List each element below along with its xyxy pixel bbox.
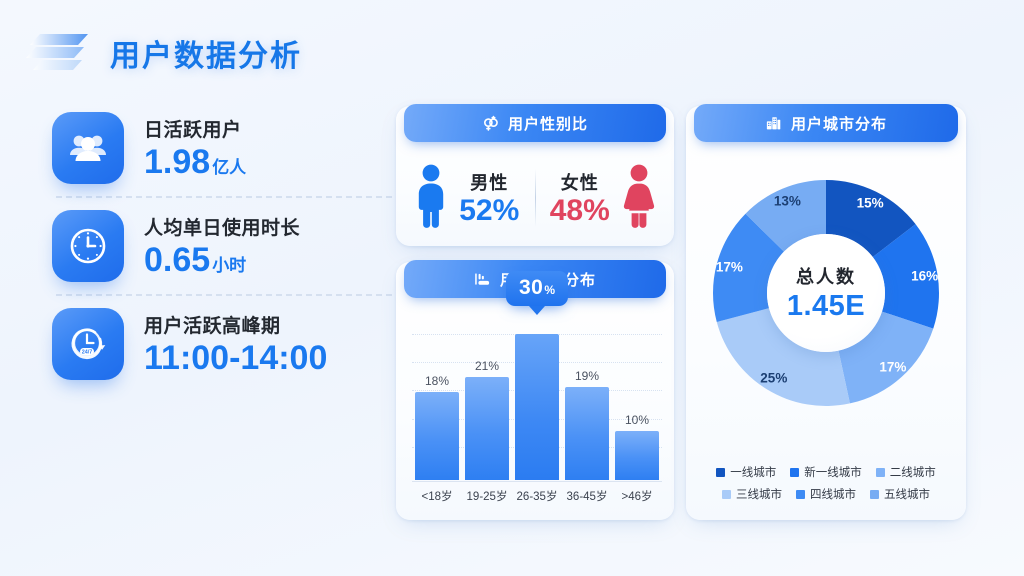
stat-number: 11:00-14:00 <box>144 341 327 377</box>
logo-icon <box>26 30 96 76</box>
legend-item[interactable]: 三线城市 <box>722 486 782 502</box>
bar-value-label: 19% <box>575 369 599 383</box>
bar[interactable] <box>565 387 609 480</box>
donut-slice-label: 15% <box>857 196 884 211</box>
donut-legend: 一线城市新一线城市二线城市三线城市四线城市五线城市 <box>700 464 952 502</box>
legend-label: 新一线城市 <box>804 464 862 480</box>
female-figure-icon <box>618 163 660 234</box>
donut-center-value: 1.45E <box>787 290 865 323</box>
card-gender-ratio: 用户性别比 男性 52% 女性 48% <box>396 106 674 246</box>
male-text: 男性 52% <box>459 169 519 227</box>
bar-column: 19% <box>565 314 609 480</box>
clock-24-7-icon: 24/7 <box>52 308 124 380</box>
x-axis-label: 36-45岁 <box>565 488 609 504</box>
gender-male: 男性 52% <box>396 150 535 246</box>
x-axis-label: <18岁 <box>415 488 459 504</box>
bars-group: 18%21%30%30%19%10% <box>412 314 662 480</box>
building-icon <box>765 115 782 132</box>
donut-chart: 总人数 1.45E 15%16%17%25%17%13% <box>686 158 966 428</box>
legend-item[interactable]: 新一线城市 <box>790 464 862 480</box>
donut-slice-label: 16% <box>911 269 938 284</box>
donut-slice-label: 13% <box>774 193 801 208</box>
bar-value-label: 21% <box>475 359 499 373</box>
donut-slice-label: 25% <box>760 371 787 386</box>
clock-icon <box>52 210 124 282</box>
stat-peak-active-period: 24/7 用户活跃高峰期 11:00-14:00 <box>52 296 392 392</box>
legend-label: 三线城市 <box>736 486 782 502</box>
svg-text:24/7: 24/7 <box>82 349 93 355</box>
donut-slice-label: 17% <box>716 260 743 275</box>
male-label: 男性 <box>470 169 508 195</box>
male-figure-icon <box>411 163 451 234</box>
legend-label: 四线城市 <box>810 486 856 502</box>
stat-value: 11:00-14:00 <box>144 341 329 377</box>
card-age-distribution: 用户年龄分布 18%21%30%30%19%10% <18岁19-25岁26-3… <box>396 262 674 520</box>
stats-column: 日活跃用户 1.98 亿人 人均单日使用时长 <box>52 100 392 392</box>
female-text: 女性 48% <box>550 169 610 227</box>
x-axis-label: >46岁 <box>615 488 659 504</box>
legend-item[interactable]: 五线城市 <box>870 486 930 502</box>
gender-symbol-icon <box>482 115 499 132</box>
bar-column: 18% <box>415 314 459 480</box>
x-axis-label: 19-25岁 <box>465 488 509 504</box>
stat-value: 1.98 亿人 <box>144 145 246 181</box>
bar-value-label: 18% <box>425 374 449 388</box>
tooltip-value: 30 <box>519 276 543 300</box>
users-group-icon <box>52 112 124 184</box>
bar-column: 10% <box>615 314 659 480</box>
card-title: 用户城市分布 <box>791 113 887 134</box>
x-axis-labels: <18岁19-25岁26-35岁36-45岁>46岁 <box>412 486 662 506</box>
stat-label: 用户活跃高峰期 <box>144 311 329 338</box>
donut-center-label: 总人数 <box>796 263 856 289</box>
bar[interactable] <box>615 431 659 480</box>
legend-swatch <box>876 468 885 477</box>
stat-daily-active-users: 日活跃用户 1.98 亿人 <box>52 100 392 196</box>
bar-value-label: 10% <box>625 413 649 427</box>
legend-item[interactable]: 四线城市 <box>796 486 856 502</box>
gender-body: 男性 52% 女性 48% <box>396 150 674 246</box>
male-percent: 52% <box>459 195 519 227</box>
card-header: 用户性别比 <box>404 104 666 142</box>
bar[interactable] <box>515 334 559 480</box>
stat-value: 0.65 小时 <box>144 243 300 279</box>
legend-label: 一线城市 <box>730 464 776 480</box>
female-percent: 48% <box>550 195 610 227</box>
card-title: 用户性别比 <box>508 113 588 134</box>
stat-number: 1.98 <box>144 145 210 181</box>
age-bar-chart: 18%21%30%30%19%10% <box>412 314 662 480</box>
legend-swatch <box>716 468 725 477</box>
bar-tooltip: 30% <box>506 271 568 306</box>
stat-unit: 小时 <box>212 257 246 275</box>
legend-item[interactable]: 一线城市 <box>716 464 776 480</box>
tooltip-unit: % <box>544 283 555 297</box>
donut-center: 总人数 1.45E <box>767 234 885 352</box>
donut-body: 总人数 1.45E 15%16%17%25%17%13% <box>708 175 944 411</box>
x-axis-line <box>412 481 662 482</box>
card-city-distribution: 用户城市分布 总人数 1.45E 15%16%17%25%17%13% 一线城市… <box>686 106 966 520</box>
bar-column: 30%30% <box>515 314 559 480</box>
bar[interactable] <box>465 377 509 480</box>
legend-swatch <box>722 490 731 499</box>
bar-column: 21% <box>465 314 509 480</box>
x-axis-label: 26-35岁 <box>515 488 559 504</box>
stat-label: 日活跃用户 <box>144 115 246 142</box>
stat-number: 0.65 <box>144 243 210 279</box>
stat-label: 人均单日使用时长 <box>144 213 300 240</box>
page-header: 用户数据分析 <box>26 30 302 76</box>
bar[interactable] <box>415 392 459 480</box>
stat-unit: 亿人 <box>212 159 246 177</box>
gender-female: 女性 48% <box>536 150 675 246</box>
legend-label: 五线城市 <box>884 486 930 502</box>
legend-label: 二线城市 <box>890 464 936 480</box>
bar-chart-icon <box>474 271 491 288</box>
page-title: 用户数据分析 <box>110 31 302 75</box>
stat-avg-daily-usage-time: 人均单日使用时长 0.65 小时 <box>52 198 392 294</box>
legend-swatch <box>790 468 799 477</box>
legend-swatch <box>870 490 879 499</box>
donut-slice-label: 17% <box>879 360 906 375</box>
legend-item[interactable]: 二线城市 <box>876 464 936 480</box>
card-header: 用户城市分布 <box>694 104 958 142</box>
female-label: 女性 <box>561 169 599 195</box>
legend-swatch <box>796 490 805 499</box>
